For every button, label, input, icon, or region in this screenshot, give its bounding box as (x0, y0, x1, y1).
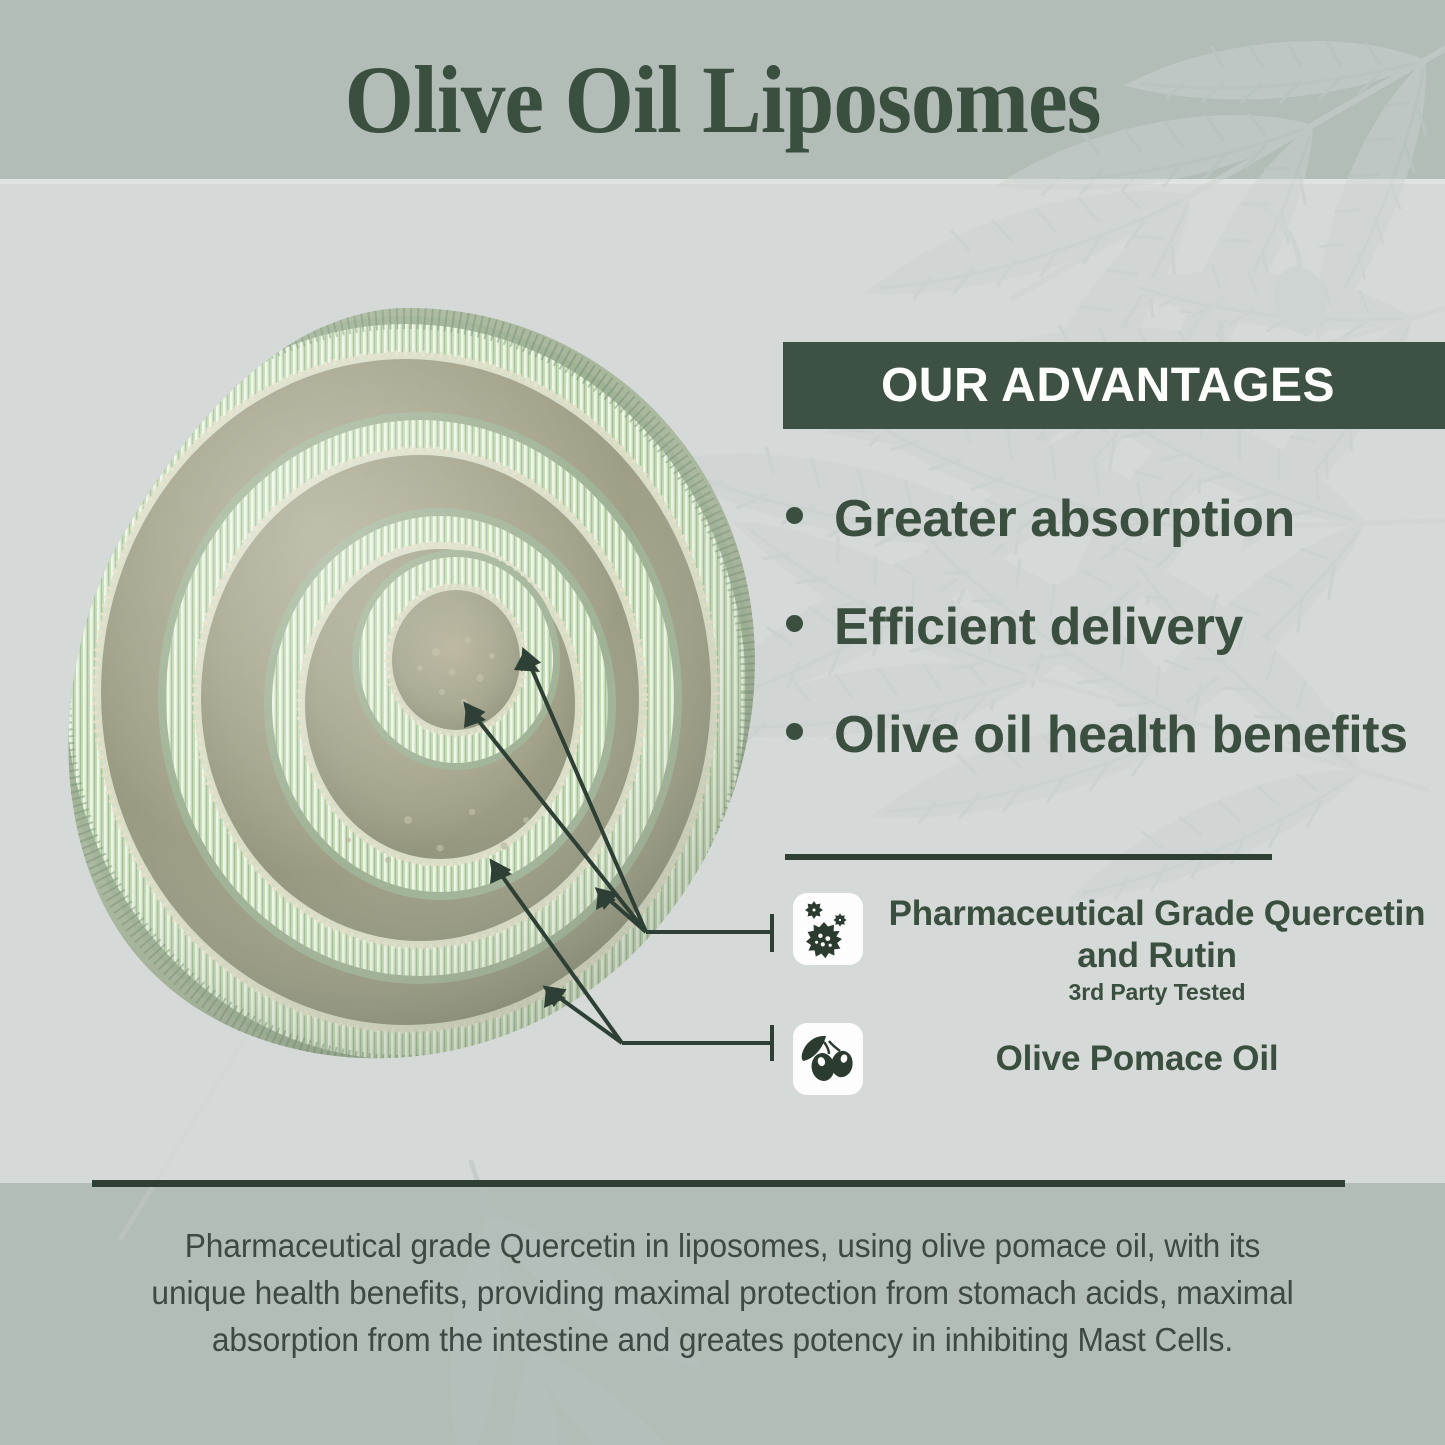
ingredient-title: Olive Pomace Oil (996, 1039, 1279, 1078)
ingredients-list: Pharmaceutical Grade Quercetin and Rutin… (793, 893, 1445, 1095)
advantage-item-1: Greater absorption (786, 492, 1445, 546)
advantages-header-bar: OUR ADVANTAGES (783, 342, 1445, 429)
ingredient-subtitle: 3rd Party Tested (869, 977, 1445, 1007)
olives-icon (793, 1023, 863, 1095)
page-title: Olive Oil Liposomes (51, 52, 1395, 148)
ingredient-row-quercetin: Pharmaceutical Grade Quercetin and Rutin… (793, 893, 1445, 1007)
advantages-list: Greater absorption Efficient delivery Ol… (786, 492, 1445, 816)
ingredients-divider (785, 854, 1272, 860)
bullet-dot-icon (786, 615, 803, 632)
ingredient-text-block: Olive Pomace Oil (863, 1038, 1445, 1080)
advantage-item-3: Olive oil health benefits (786, 708, 1445, 762)
molecule-cluster-icon (793, 893, 863, 965)
bullet-dot-icon (786, 723, 803, 740)
advantage-label: Efficient delivery (834, 600, 1243, 654)
advantage-item-2: Efficient delivery (786, 600, 1445, 654)
advantage-label: Greater absorption (834, 492, 1295, 546)
liposome-illustration (48, 300, 778, 1090)
footer-description: Pharmaceutical grade Quercetin in liposo… (144, 1222, 1301, 1363)
advantage-label: Olive oil health benefits (834, 708, 1408, 762)
ingredient-row-olive-pomace-oil: Olive Pomace Oil (793, 1023, 1445, 1095)
bullet-dot-icon (786, 507, 803, 524)
advantages-header-label: OUR ADVANTAGES (881, 358, 1335, 413)
ingredient-title: Pharmaceutical Grade Quercetin and Rutin (889, 894, 1426, 975)
ingredient-text-block: Pharmaceutical Grade Quercetin and Rutin… (863, 893, 1445, 1007)
infographic-canvas: Olive Oil Liposomes (0, 0, 1445, 1445)
footer-divider (92, 1180, 1345, 1187)
